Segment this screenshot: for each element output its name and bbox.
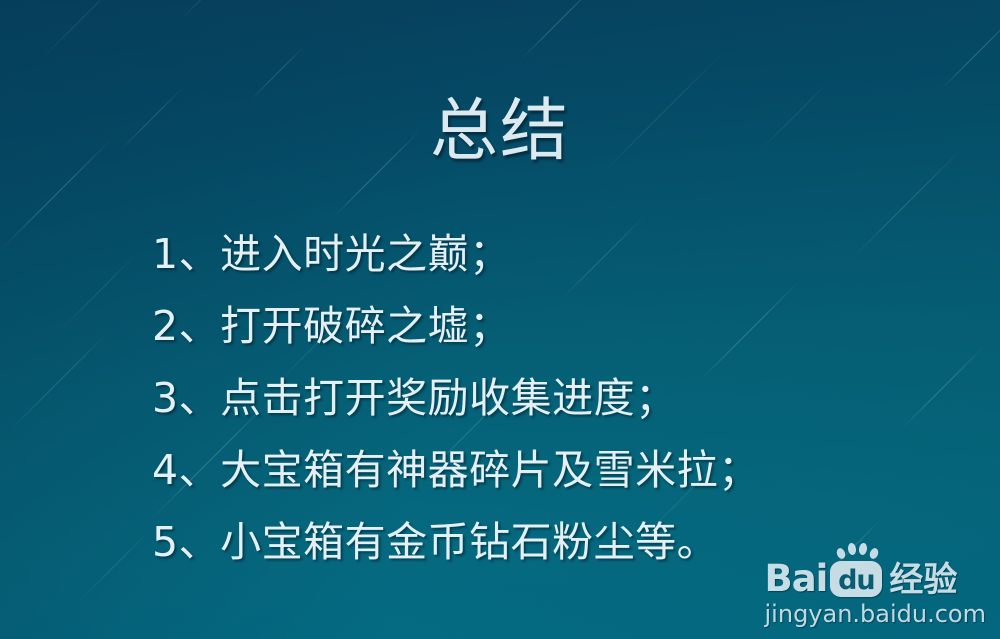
summary-bullet-list: 1、进入时光之巅； 2、打开破碎之墟； 3、点击打开奖励收集进度； 4、大宝箱有… [152, 218, 852, 578]
slide-title: 总结 [0, 98, 1000, 166]
paw-print-icon [835, 542, 881, 564]
baidu-logo-du-text: du [838, 567, 875, 594]
watermark-url-text: jingyan.baidu.com [765, 601, 986, 627]
baidu-logo-jingyan-text: 经验 [889, 563, 957, 597]
baidu-jingyan-watermark: Bai du 经验 jingyan.baidu.com [765, 555, 986, 627]
bullet-item-4: 4、大宝箱有神器碎片及雪米拉； [152, 434, 852, 506]
baidu-logo-du-box: du [830, 561, 882, 597]
bullet-item-2: 2、打开破碎之墟； [152, 290, 852, 362]
presentation-slide: 总结 1、进入时光之巅； 2、打开破碎之墟； 3、点击打开奖励收集进度； 4、大… [0, 0, 1000, 639]
slide-content: 总结 1、进入时光之巅； 2、打开破碎之墟； 3、点击打开奖励收集进度； 4、大… [0, 0, 1000, 639]
baidu-logo: Bai du 经验 [765, 555, 986, 597]
bullet-item-3: 3、点击打开奖励收集进度； [152, 362, 852, 434]
baidu-logo-bai-text: Bai [765, 560, 828, 597]
bullet-item-1: 1、进入时光之巅； [152, 218, 852, 290]
bullet-item-5: 5、小宝箱有金币钻石粉尘等。 [152, 506, 852, 578]
